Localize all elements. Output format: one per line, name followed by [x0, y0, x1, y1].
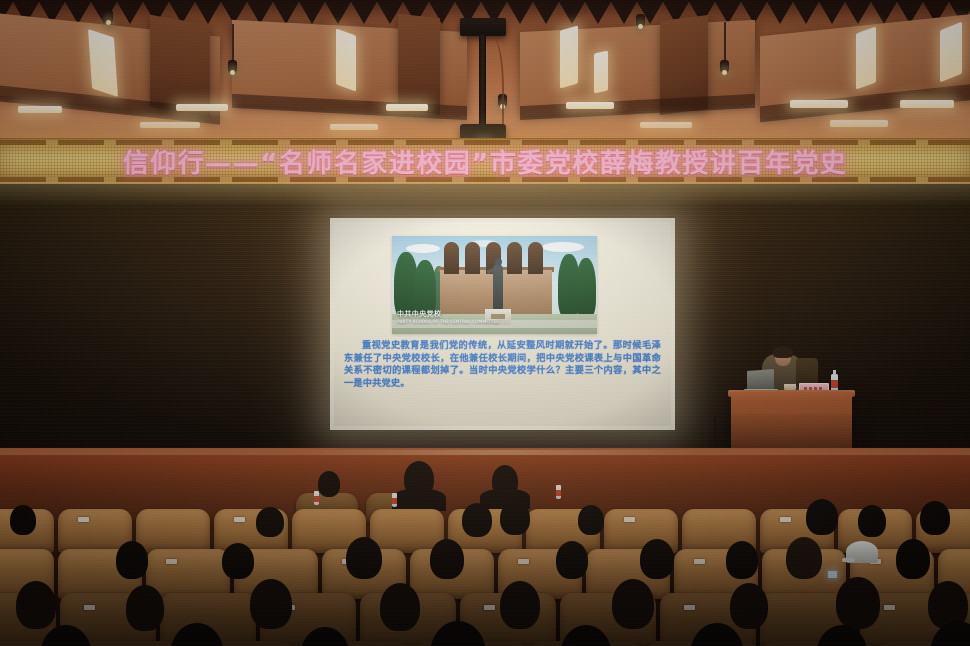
- auditorium-photo: 信仰行——“名师名家进校园”市委党校薛梅教授讲百年党史: [0, 0, 970, 646]
- photo-tree: [576, 258, 596, 318]
- strip-light: [336, 28, 356, 91]
- photo-arch-window: [528, 242, 543, 274]
- photo-arch-window: [444, 242, 459, 274]
- ceiling-baffle: [350, 0, 378, 24]
- strip-light: [566, 102, 614, 109]
- banner-title: 信仰行——“名师名家进校园”市委党校薛梅教授讲百年党史: [0, 138, 970, 184]
- strip-light: [594, 51, 608, 94]
- seat-number-plate: [884, 605, 895, 610]
- spotlight-icon: [636, 14, 645, 27]
- ceiling-baffle: [532, 0, 560, 24]
- seat-number-plate: [84, 605, 95, 610]
- audience-head: [500, 581, 540, 629]
- photo-arch-window: [507, 242, 522, 274]
- strip-light: [856, 26, 876, 89]
- audience-head: [116, 541, 148, 579]
- ceiling: [0, 0, 970, 146]
- slide-photo: 中共中央党校 PARTY SCHOOL OF THE CENTRAL COMMI…: [392, 236, 597, 334]
- audience-head: [786, 537, 822, 579]
- audience-head: [222, 543, 254, 579]
- strip-light: [176, 104, 228, 111]
- bottle-icon: [314, 491, 319, 505]
- strip-light: [830, 120, 888, 127]
- audience-head: [836, 577, 880, 629]
- audience-head: [612, 579, 654, 629]
- ceiling-baffle: [610, 0, 638, 24]
- strip-light: [330, 124, 378, 130]
- audience-head: [726, 541, 758, 579]
- ceiling-baffle: [818, 0, 846, 24]
- audience-head: [126, 585, 164, 631]
- audience-head: [858, 505, 886, 537]
- audience-head: [16, 581, 56, 629]
- audience-head: [346, 537, 382, 579]
- speaker-hair: [773, 346, 793, 358]
- audience-head: [256, 507, 284, 537]
- ceiling-baffle: [558, 0, 586, 24]
- spotlight-icon: [228, 60, 237, 73]
- ceiling-baffle: [584, 0, 612, 24]
- cap-icon: [846, 541, 878, 563]
- audience-head: [806, 499, 838, 535]
- audience-head: [10, 505, 36, 535]
- audience-head: [578, 505, 604, 535]
- seat-number-plate: [234, 517, 245, 522]
- ceiling-baffle: [792, 0, 820, 24]
- audience-head: [500, 501, 530, 535]
- strip-light: [640, 122, 692, 128]
- seat-number-plate: [684, 605, 695, 610]
- led-banner: 信仰行——“名师名家进校园”市委党校薛梅教授讲百年党史: [0, 138, 970, 184]
- bottle-label: [831, 380, 838, 388]
- audience-head: [250, 579, 292, 629]
- strip-light: [560, 25, 578, 88]
- spotlight-icon: [720, 60, 729, 73]
- desk-shading: [731, 414, 852, 450]
- ceiling-baffle: [870, 0, 898, 24]
- bottle-icon: [556, 485, 561, 499]
- photo-cloud: [406, 244, 440, 253]
- seat-number-plate: [624, 517, 635, 522]
- photo-watermark-sub: PARTY SCHOOL OF THE CENTRAL COMMITTEE: [397, 318, 499, 326]
- projector-pole: [479, 35, 486, 127]
- audience-head: [896, 539, 930, 579]
- audience-head: [730, 583, 768, 629]
- ceiling-baffle: [272, 0, 300, 24]
- slide-body-text: 重视党史教育是我们党的传统，从延安整风时期就开始了。那时候毛泽东兼任了中央党校校…: [344, 340, 661, 390]
- projection-screen: 中共中央党校 PARTY SCHOOL OF THE CENTRAL COMMI…: [330, 218, 675, 430]
- ceiling-baffle: [324, 0, 352, 24]
- photo-arch-window: [465, 242, 480, 274]
- seat-number-plate: [166, 559, 177, 564]
- strip-light: [140, 122, 200, 128]
- audience-shoulders: [392, 489, 446, 511]
- audience-head: [556, 541, 588, 579]
- audience-head: [318, 471, 340, 497]
- strip-light: [18, 106, 62, 113]
- strip-light: [900, 100, 954, 108]
- audience-head: [380, 583, 420, 631]
- light-hanger: [232, 24, 234, 62]
- ceiling-baffle: [194, 0, 222, 24]
- strip-light: [790, 100, 848, 108]
- bottle-icon: [392, 493, 397, 507]
- ceiling-baffle: [298, 0, 326, 24]
- photo-statue-body: [493, 264, 503, 310]
- photo-watermark: 中共中央党校 PARTY SCHOOL OF THE CENTRAL COMMI…: [397, 310, 499, 326]
- audience-area: [0, 455, 970, 646]
- audience-head: [920, 501, 950, 535]
- seat-number-plate: [780, 517, 791, 522]
- audience-head: [462, 503, 492, 537]
- seat[interactable]: [136, 509, 210, 553]
- photo-statue-head: [495, 258, 502, 266]
- ceiling-baffle: [844, 0, 872, 24]
- projector-cable: [486, 38, 504, 124]
- slide-content: 中共中央党校 PARTY SCHOOL OF THE CENTRAL COMMI…: [334, 222, 671, 426]
- photo-cloud: [542, 242, 584, 252]
- seat-number-plate: [518, 559, 529, 564]
- spotlight-icon: [104, 10, 113, 23]
- strip-light: [386, 104, 428, 111]
- audience-head: [430, 539, 464, 579]
- seat-number-plate: [484, 605, 495, 610]
- acoustic-panel: [398, 14, 440, 114]
- projector-mount-plate: [460, 18, 506, 36]
- phone-screen-icon: [828, 571, 837, 578]
- photo-watermark-main: 中共中央党校: [397, 310, 441, 318]
- strip-light: [940, 22, 962, 83]
- seat-number-plate: [78, 517, 89, 522]
- strip-light: [88, 29, 118, 97]
- ceiling-projector: [452, 18, 512, 144]
- audience-head: [640, 539, 674, 579]
- light-hanger: [724, 22, 726, 62]
- seat-number-plate: [694, 559, 705, 564]
- ceiling-baffle: [116, 0, 144, 24]
- ceiling-baffle: [766, 0, 794, 24]
